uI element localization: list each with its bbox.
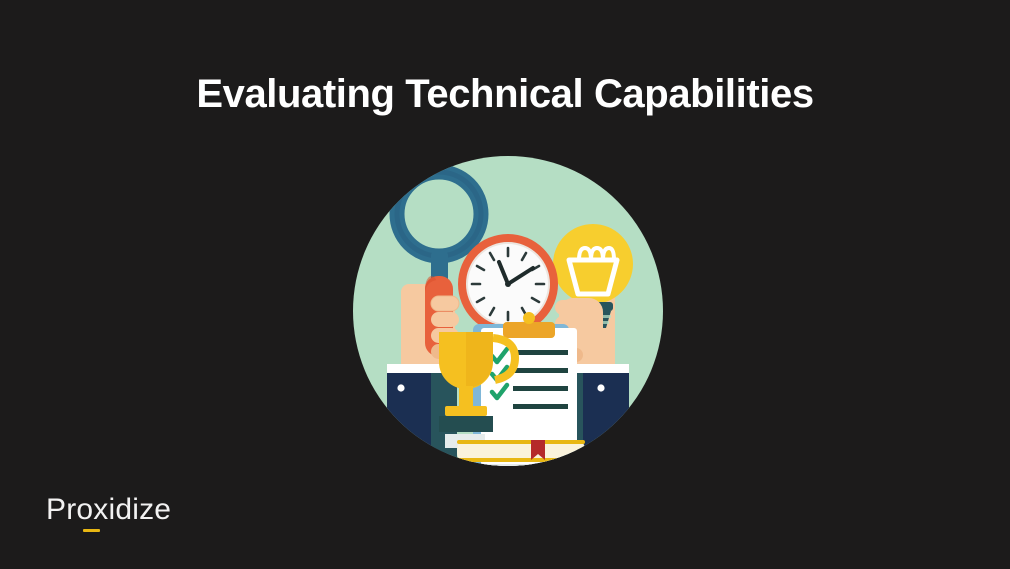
slide-canvas: Evaluating Technical Capabilities: [0, 0, 1010, 569]
page-title: Evaluating Technical Capabilities: [0, 71, 1010, 117]
clock-icon: [458, 234, 558, 334]
illustration-svg: [353, 152, 663, 470]
evaluation-illustration: [353, 152, 663, 470]
brand-logo: Proxidize: [46, 493, 171, 527]
book-stack: [449, 440, 589, 470]
brand-wordmark: Proxidize: [46, 495, 171, 525]
brand-accent-underline: [83, 529, 100, 532]
